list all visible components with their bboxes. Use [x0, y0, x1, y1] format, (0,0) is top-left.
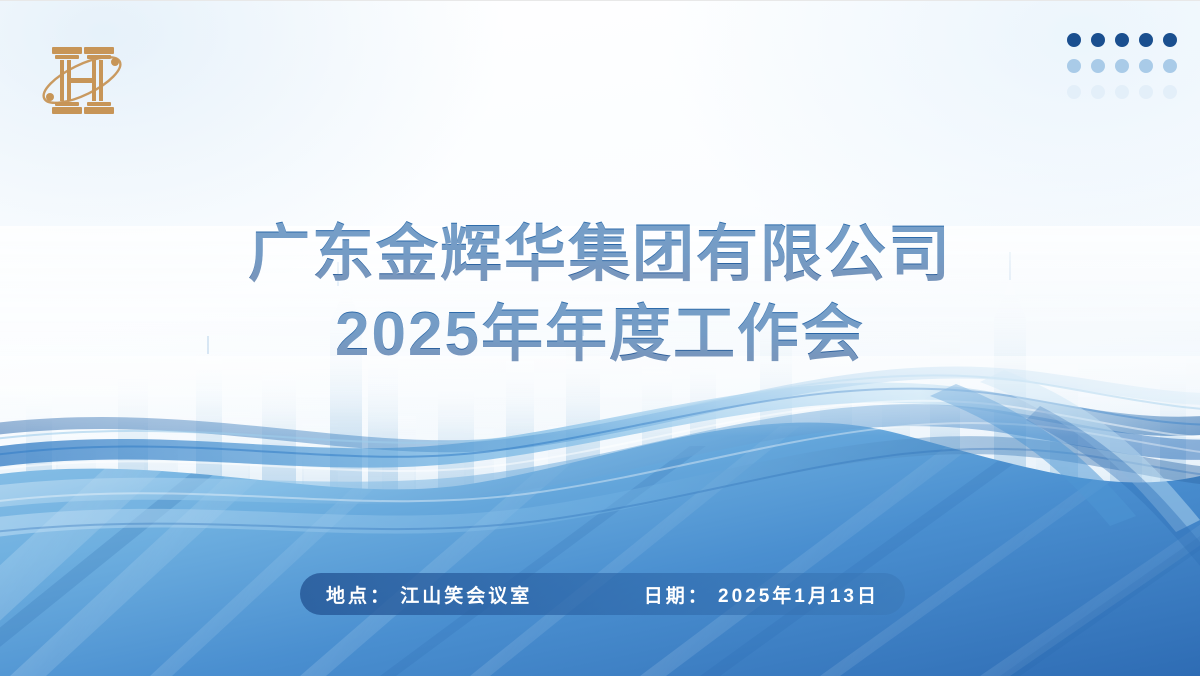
dot [1067, 33, 1081, 47]
dot [1091, 59, 1105, 73]
presentation-slide: 广东金辉华集团有限公司 2025年年度工作会 地点： 江山笑会议室 日期： 20… [0, 0, 1200, 676]
pillars-monogram-logo [34, 33, 130, 125]
dot [1115, 33, 1129, 47]
decorative-dot-grid [1062, 27, 1182, 105]
meeting-date: 日期： 2025年1月13日 [644, 581, 879, 608]
meeting-info-bar: 地点： 江山笑会议室 日期： 2025年1月13日 [300, 573, 905, 615]
flowing-blue-ribbon-waves [0, 356, 1200, 676]
dot [1163, 59, 1177, 73]
slide-title-block: 广东金辉华集团有限公司 2025年年度工作会 [0, 215, 1200, 375]
dot [1139, 85, 1153, 99]
dot [1115, 59, 1129, 73]
dot [1163, 85, 1177, 99]
title-line-company: 广东金辉华集团有限公司 [0, 215, 1200, 295]
dot [1139, 33, 1153, 47]
dot [1115, 85, 1129, 99]
dot [1091, 85, 1105, 99]
dot [1163, 33, 1177, 47]
dot [1067, 59, 1081, 73]
dot [1091, 33, 1105, 47]
title-line-event: 2025年年度工作会 [0, 295, 1200, 375]
dot [1139, 59, 1153, 73]
dot [1067, 85, 1081, 99]
meeting-location: 地点： 江山笑会议室 [326, 581, 532, 608]
